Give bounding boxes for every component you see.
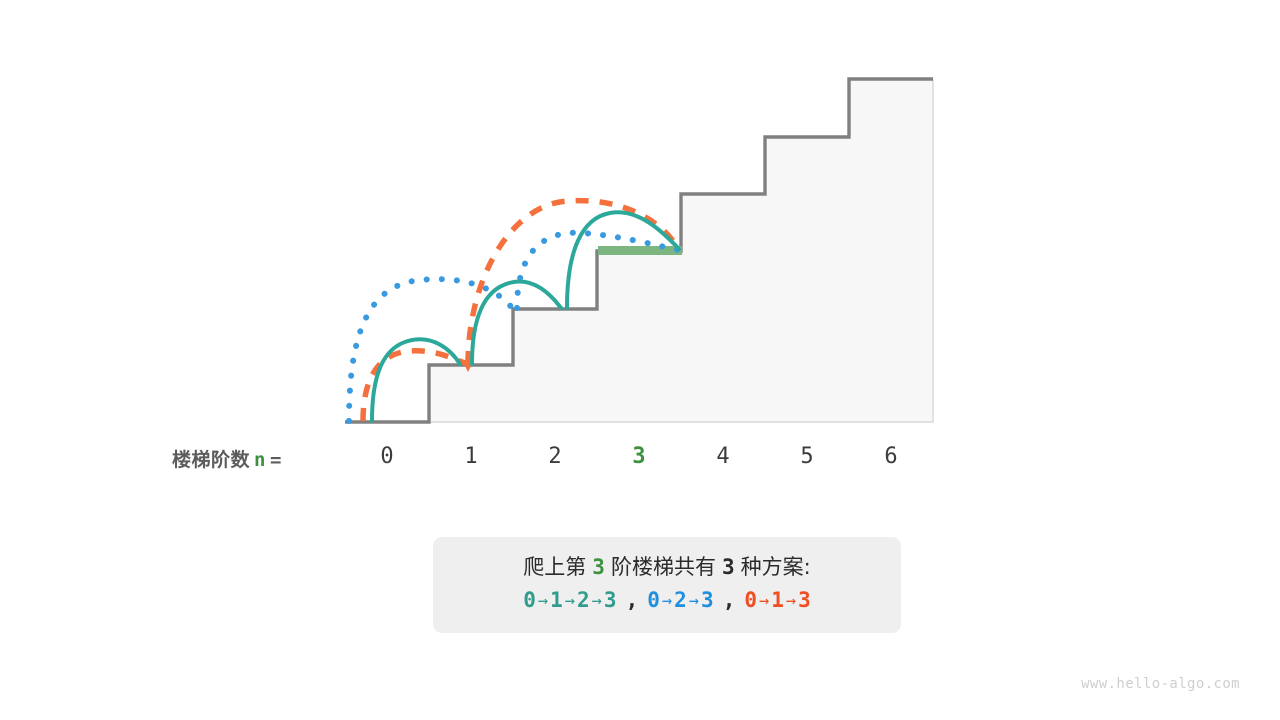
- axis-tick-3: 3: [619, 444, 659, 469]
- axis-tick-5: 5: [787, 444, 827, 469]
- node: 0: [744, 588, 757, 612]
- caption-text-3: 种方案:: [741, 555, 811, 579]
- node: 1: [550, 588, 563, 612]
- node: 0: [523, 588, 536, 612]
- node: 2: [577, 588, 590, 612]
- arrow-icon: →: [563, 591, 577, 611]
- caption-text-2: 阶楼梯共有: [611, 555, 716, 579]
- arrow-icon: →: [687, 591, 701, 611]
- node: 1: [771, 588, 784, 612]
- axis-tick-0: 0: [367, 444, 407, 469]
- caption-paths-line: 0→1→2→3,0→2→3,0→1→3: [523, 584, 811, 618]
- caption-path-blue: 0→2→3: [647, 588, 713, 612]
- caption-separator: ,: [714, 588, 745, 612]
- axis-tick-2: 2: [535, 444, 575, 469]
- caption-solution-count: 3: [716, 555, 741, 579]
- axis-tick-4: 4: [703, 444, 743, 469]
- arrow-icon: →: [660, 591, 674, 611]
- caption-box: 爬上第3阶楼梯共有3种方案: 0→1→2→3,0→2→3,0→1→3: [433, 537, 901, 633]
- axis-title: 楼梯阶数n=: [172, 445, 282, 472]
- arrow-icon: →: [536, 591, 550, 611]
- axis-equals-sign: =: [270, 449, 282, 471]
- axis-label-row: 楼梯阶数n= 0 1 2 3 4 5 6: [0, 445, 1280, 483]
- caption-separator: ,: [617, 588, 648, 612]
- node: 3: [604, 588, 617, 612]
- caption-summary-line: 爬上第3阶楼梯共有3种方案:: [523, 552, 810, 582]
- caption-path-orange: 0→1→3: [744, 588, 810, 612]
- caption-step-number: 3: [586, 555, 611, 579]
- node: 3: [701, 588, 714, 612]
- axis-tick-6: 6: [871, 444, 911, 469]
- node: 0: [647, 588, 660, 612]
- axis-title-text: 楼梯阶数: [172, 449, 250, 471]
- watermark: www.hello-algo.com: [1081, 676, 1240, 692]
- caption-path-teal: 0→1→2→3: [523, 588, 616, 612]
- caption-text-1: 爬上第: [523, 555, 586, 579]
- axis-variable-n: n: [250, 449, 270, 471]
- arrow-icon: →: [757, 591, 771, 611]
- arrow-icon: →: [590, 591, 604, 611]
- figure-canvas: 楼梯阶数n= 0 1 2 3 4 5 6 爬上第3阶楼梯共有3种方案: 0→1→…: [0, 0, 1280, 720]
- node: 2: [674, 588, 687, 612]
- node: 3: [798, 588, 811, 612]
- arrow-icon: →: [784, 591, 798, 611]
- axis-tick-1: 1: [451, 444, 491, 469]
